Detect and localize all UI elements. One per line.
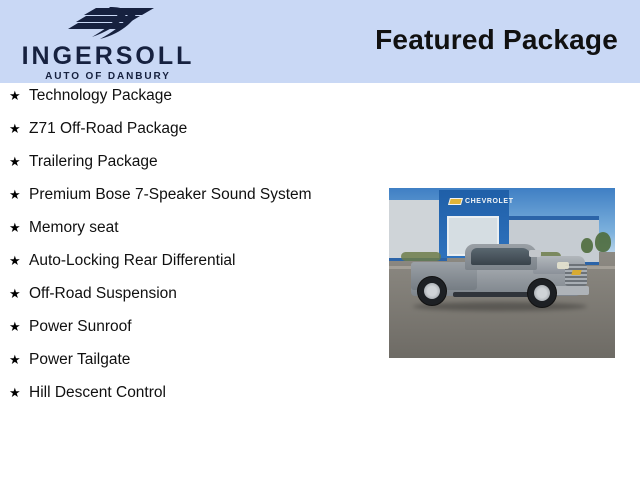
list-item-label: Hill Descent Control	[29, 384, 166, 401]
list-item: ★ Power Tailgate	[0, 350, 340, 370]
list-item: ★ Memory seat	[0, 218, 340, 238]
list-item-label: Technology Package	[29, 87, 172, 104]
list-item-label: Power Sunroof	[29, 318, 132, 335]
photo-shrub	[401, 252, 441, 261]
list-item: ★ Z71 Off-Road Package	[0, 119, 340, 139]
vehicle-photo: CHEVROLET	[389, 188, 615, 358]
brand-tagline: AUTO OF DANBURY	[8, 72, 208, 82]
list-item: ★ Auto-Locking Rear Differential	[0, 251, 340, 271]
list-item-label: Premium Bose 7-Speaker Sound System	[29, 186, 312, 203]
star-bullet-icon: ★	[9, 383, 21, 403]
list-item: ★ Hill Descent Control	[0, 383, 340, 403]
list-item-label: Auto-Locking Rear Differential	[29, 252, 236, 269]
photo-tree	[581, 238, 593, 253]
list-item-label: Memory seat	[29, 219, 119, 236]
list-item-label: Power Tailgate	[29, 351, 130, 368]
star-bullet-icon: ★	[9, 350, 21, 370]
brand-name: INGERSOLL	[8, 44, 208, 69]
star-bullet-icon: ★	[9, 152, 21, 172]
star-bullet-icon: ★	[9, 86, 21, 106]
header-banner: INGERSOLL AUTO OF DANBURY Featured Packa…	[0, 0, 640, 83]
list-item: ★ Technology Package	[0, 86, 340, 106]
star-bullet-icon: ★	[9, 119, 21, 139]
featured-package-list: ★ Technology Package ★ Z71 Off-Road Pack…	[0, 86, 340, 416]
star-bullet-icon: ★	[9, 251, 21, 271]
list-item: ★ Power Sunroof	[0, 317, 340, 337]
list-item-label: Z71 Off-Road Package	[29, 120, 187, 137]
list-item-label: Trailering Package	[29, 153, 158, 170]
photo-truck-mirror	[529, 250, 541, 257]
photo-dealer-sign-text: CHEVROLET	[465, 198, 514, 205]
list-item: ★ Off-Road Suspension	[0, 284, 340, 304]
star-bullet-icon: ★	[9, 284, 21, 304]
photo-truck-rear-wheel	[417, 276, 447, 306]
list-item: ★ Premium Bose 7-Speaker Sound System	[0, 185, 340, 205]
page-title: Featured Package	[375, 24, 618, 56]
photo-tree	[595, 232, 611, 252]
star-bullet-icon: ★	[9, 317, 21, 337]
photo-truck-running-board	[453, 292, 531, 297]
chevrolet-bowtie-icon	[571, 270, 581, 275]
chevrolet-bowtie-icon	[448, 198, 463, 205]
ingersoll-wing-emblem-icon	[56, 6, 164, 40]
star-bullet-icon: ★	[9, 218, 21, 238]
photo-truck-windows	[471, 248, 531, 265]
list-item-label: Off-Road Suspension	[29, 285, 177, 302]
star-bullet-icon: ★	[9, 185, 21, 205]
brand-logo[interactable]: INGERSOLL AUTO OF DANBURY	[8, 2, 208, 82]
photo-truck-front-wheel	[527, 278, 557, 308]
list-item: ★ Trailering Package	[0, 152, 340, 172]
photo-truck-headlight	[557, 262, 569, 269]
